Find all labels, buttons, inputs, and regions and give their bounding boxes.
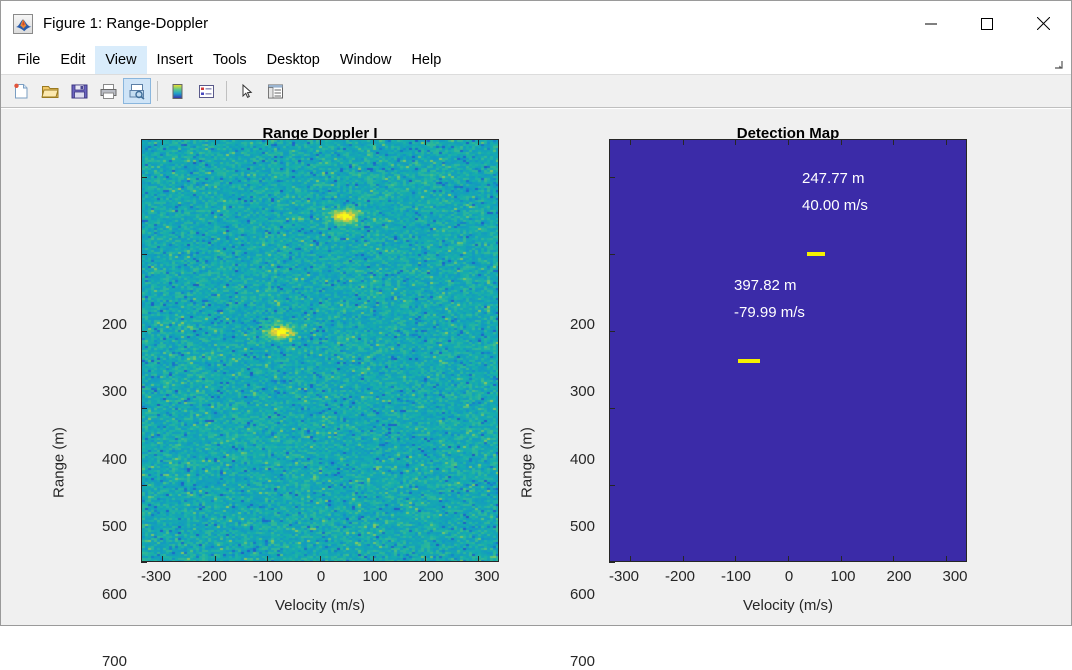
- menu-bar: File Edit View Insert Tools Desktop Wind…: [1, 46, 1071, 74]
- figure-toolbar: [1, 74, 1071, 108]
- detection-1-marker: [807, 252, 825, 256]
- range-doppler-xtick--100: -100: [239, 568, 297, 585]
- detection-map-xtick--300: -300: [595, 568, 653, 585]
- toolbar-separator-1: [157, 81, 158, 101]
- menu-item-view[interactable]: View: [95, 46, 146, 74]
- edit-plot-pointer-icon[interactable]: [232, 78, 260, 104]
- detection-2-range-label: 397.82 m: [734, 277, 797, 294]
- matlab-membrane-icon: [13, 14, 33, 34]
- range-doppler-heatmap: [142, 140, 499, 562]
- figure-canvas: Range Doppler I: [1, 108, 1071, 625]
- range-doppler-plot[interactable]: [141, 139, 499, 562]
- save-figure-icon[interactable]: [65, 78, 93, 104]
- property-inspector-icon[interactable]: [261, 78, 289, 104]
- insert-legend-icon[interactable]: [192, 78, 220, 104]
- detection-map-ytick-200: 200: [529, 316, 595, 333]
- detection-2-velocity-label: -79.99 m/s: [734, 304, 805, 321]
- range-doppler-ytick-700: 700: [61, 653, 127, 670]
- range-doppler-xtick-200: 200: [402, 568, 460, 585]
- detection-map-xtick--100: -100: [707, 568, 765, 585]
- range-doppler-xtick-300: 300: [458, 568, 516, 585]
- window-controls: [903, 1, 1071, 46]
- minimize-icon[interactable]: [903, 1, 959, 46]
- detection-map-ytick-400: 400: [529, 451, 595, 468]
- insert-colorbar-icon[interactable]: [163, 78, 191, 104]
- close-icon[interactable]: [1015, 1, 1071, 46]
- range-doppler-ytick-200: 200: [61, 316, 127, 333]
- figure-window: Figure 1: Range-Doppler File Edit View I…: [0, 0, 1072, 626]
- detection-1-velocity-label: 40.00 m/s: [802, 197, 868, 214]
- menu-item-desktop[interactable]: Desktop: [257, 46, 330, 74]
- range-doppler-xtick--300: -300: [127, 568, 185, 585]
- range-doppler-xtick-100: 100: [346, 568, 404, 585]
- range-doppler-xlabel: Velocity (m/s): [141, 597, 499, 614]
- print-preview-icon[interactable]: [123, 78, 151, 104]
- detection-map-ytick-500: 500: [529, 518, 595, 535]
- detection-map-xtick-300: 300: [926, 568, 984, 585]
- range-doppler-ytick-300: 300: [61, 383, 127, 400]
- detection-map-xtick-0: 0: [760, 568, 818, 585]
- detection-map-ytick-700: 700: [529, 653, 595, 670]
- range-doppler-ytick-600: 600: [61, 586, 127, 603]
- detection-map-xtick--200: -200: [651, 568, 709, 585]
- title-bar: Figure 1: Range-Doppler: [1, 1, 1071, 46]
- range-doppler-ytick-500: 500: [61, 518, 127, 535]
- range-doppler-xtick-0: 0: [292, 568, 350, 585]
- detection-map-ytick-300: 300: [529, 383, 595, 400]
- open-file-icon[interactable]: [36, 78, 64, 104]
- menu-item-file[interactable]: File: [7, 46, 50, 74]
- resize-grip-icon[interactable]: [1053, 46, 1071, 74]
- range-doppler-ytick-400: 400: [61, 451, 127, 468]
- detection-map-ytick-600: 600: [529, 586, 595, 603]
- toolbar-separator-2: [226, 81, 227, 101]
- detection-2-marker: [738, 359, 760, 363]
- detection-map-xtick-100: 100: [814, 568, 872, 585]
- detection-map-plot[interactable]: 247.77 m 40.00 m/s 397.82 m -79.99 m/s: [609, 139, 967, 562]
- print-figure-icon[interactable]: [94, 78, 122, 104]
- window-title: Figure 1: Range-Doppler: [43, 15, 208, 32]
- maximize-icon[interactable]: [959, 1, 1015, 46]
- detection-map-xlabel: Velocity (m/s): [609, 597, 967, 614]
- detection-1-range-label: 247.77 m: [802, 170, 865, 187]
- menu-item-edit[interactable]: Edit: [50, 46, 95, 74]
- detection-map-xtick-200: 200: [870, 568, 928, 585]
- menu-item-tools[interactable]: Tools: [203, 46, 257, 74]
- menu-item-help[interactable]: Help: [401, 46, 451, 74]
- menu-item-window[interactable]: Window: [330, 46, 402, 74]
- range-doppler-xtick--200: -200: [183, 568, 241, 585]
- new-figure-icon[interactable]: [7, 78, 35, 104]
- menu-item-insert[interactable]: Insert: [147, 46, 203, 74]
